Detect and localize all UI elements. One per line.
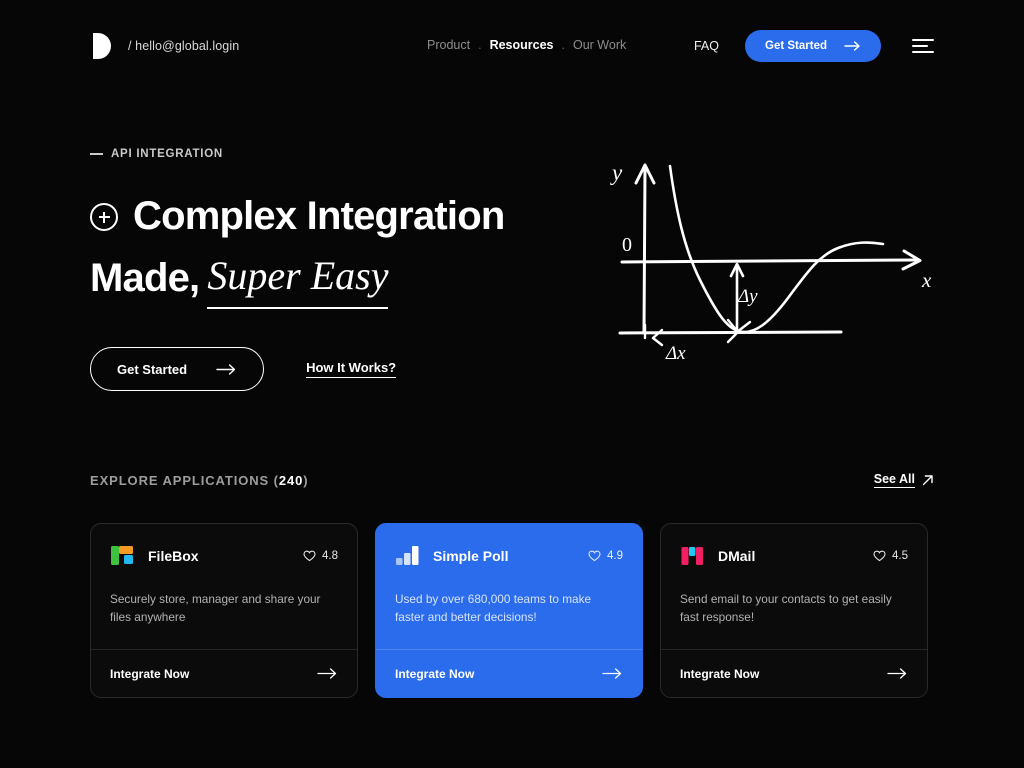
heart-icon xyxy=(873,550,886,562)
how-it-works-link[interactable]: How It Works? xyxy=(306,360,396,378)
arrow-up-right-icon xyxy=(922,474,934,486)
delta-y-label: Δy xyxy=(737,286,758,307)
nav-separator: . xyxy=(561,38,566,52)
headline-line-2: Made, Super Easy xyxy=(90,246,590,309)
header-get-started-label: Get Started xyxy=(765,40,827,52)
bar-chart-icon xyxy=(395,543,420,568)
hero-get-started-label: Get Started xyxy=(117,362,187,377)
card-header: Simple Poll 4.9 xyxy=(395,543,623,568)
card-action[interactable]: Integrate Now xyxy=(661,649,927,697)
arrow-right-icon xyxy=(217,364,237,375)
landing-page: / hello@global.login Product . Resources… xyxy=(0,0,1024,768)
arrow-right-icon xyxy=(318,668,338,679)
app-name: Simple Poll xyxy=(433,548,588,564)
nav-item-our-work[interactable]: Our Work xyxy=(573,38,626,52)
hamburger-menu-icon[interactable] xyxy=(912,35,934,57)
see-all-label: See All xyxy=(874,472,915,488)
card-header: FileBox 4.8 xyxy=(110,543,338,568)
app-card-filebox[interactable]: FileBox 4.8 Securely store, manager and … xyxy=(90,523,358,698)
app-card-dmail[interactable]: DMail 4.5 Send email to your contacts to… xyxy=(660,523,928,698)
hero-eyebrow-label: API INTEGRATION xyxy=(111,148,223,160)
applications-header: EXPLORE APPLICATIONS (240) See All xyxy=(90,472,934,488)
dmail-m-icon xyxy=(680,543,705,568)
app-rating-value: 4.8 xyxy=(322,550,338,562)
integrate-now-label: Integrate Now xyxy=(395,667,474,681)
nav-item-faq[interactable]: FAQ xyxy=(694,39,719,53)
integrate-now-label: Integrate Now xyxy=(680,667,759,681)
integrate-now-label: Integrate Now xyxy=(110,667,189,681)
half-disc-logo-icon xyxy=(90,31,116,61)
axis-label-x: x xyxy=(921,268,932,292)
app-rating: 4.5 xyxy=(873,550,908,562)
arrow-right-icon xyxy=(603,668,623,679)
card-header: DMail 4.5 xyxy=(680,543,908,568)
site-header: / hello@global.login Product . Resources… xyxy=(0,0,1024,92)
nav-item-resources[interactable]: Resources xyxy=(490,38,554,52)
headline-line-1: Complex Integration xyxy=(90,186,590,246)
app-name: FileBox xyxy=(148,548,303,564)
applications-title-text: EXPLORE APPLICATIONS xyxy=(90,473,269,488)
delta-x-label: Δx xyxy=(665,343,686,364)
arrow-right-icon xyxy=(845,41,861,51)
nav-item-product[interactable]: Product xyxy=(427,38,470,52)
app-rating: 4.8 xyxy=(303,550,338,562)
hero-get-started-button[interactable]: Get Started xyxy=(90,347,264,391)
arrow-right-icon xyxy=(888,668,908,679)
card-action[interactable]: Integrate Now xyxy=(376,649,642,697)
page-title: Complex Integration Made, Super Easy xyxy=(90,186,590,309)
origin-label: 0 xyxy=(622,234,632,256)
hero-sketch-chart: y x 0 Δy Δx xyxy=(598,152,948,372)
app-description: Used by over 680,000 teams to make faste… xyxy=(395,590,615,626)
nav-separator: . xyxy=(477,38,482,52)
app-rating: 4.9 xyxy=(588,550,623,562)
app-description: Securely store, manager and share your f… xyxy=(110,590,330,626)
applications-count: (240) xyxy=(274,473,309,488)
see-all-link[interactable]: See All xyxy=(874,472,934,488)
heart-icon xyxy=(303,550,316,562)
hero-cta-row: Get Started How It Works? xyxy=(90,347,590,391)
brand-email: / hello@global.login xyxy=(128,39,239,53)
headline-text-2: Made, xyxy=(90,248,199,308)
applications-title: EXPLORE APPLICATIONS (240) xyxy=(90,473,308,488)
headline-emphasis: Super Easy xyxy=(207,246,388,309)
hero-section: API INTEGRATION Complex Integration Made… xyxy=(90,148,590,391)
plus-circle-icon xyxy=(90,203,118,231)
header-actions: FAQ Get Started xyxy=(694,30,934,62)
brand[interactable]: / hello@global.login xyxy=(90,31,239,61)
hero-eyebrow: API INTEGRATION xyxy=(90,148,590,160)
heart-icon xyxy=(588,550,601,562)
filebox-blocks-icon xyxy=(110,543,135,568)
headline-text-1: Complex Integration xyxy=(133,186,505,246)
dash-icon xyxy=(90,153,103,154)
axis-label-y: y xyxy=(610,160,623,185)
main-nav: Product . Resources . Our Work xyxy=(427,38,626,52)
app-rating-value: 4.5 xyxy=(892,550,908,562)
app-description: Send email to your contacts to get easil… xyxy=(680,590,900,626)
app-name: DMail xyxy=(718,548,873,564)
app-card-simple-poll[interactable]: Simple Poll 4.9 Used by over 680,000 tea… xyxy=(375,523,643,698)
card-body: DMail 4.5 Send email to your contacts to… xyxy=(661,524,927,649)
applications-grid: FileBox 4.8 Securely store, manager and … xyxy=(90,523,928,698)
app-rating-value: 4.9 xyxy=(607,550,623,562)
card-body: Simple Poll 4.9 Used by over 680,000 tea… xyxy=(376,524,642,649)
card-body: FileBox 4.8 Securely store, manager and … xyxy=(91,524,357,649)
header-get-started-button[interactable]: Get Started xyxy=(745,30,881,62)
card-action[interactable]: Integrate Now xyxy=(91,649,357,697)
